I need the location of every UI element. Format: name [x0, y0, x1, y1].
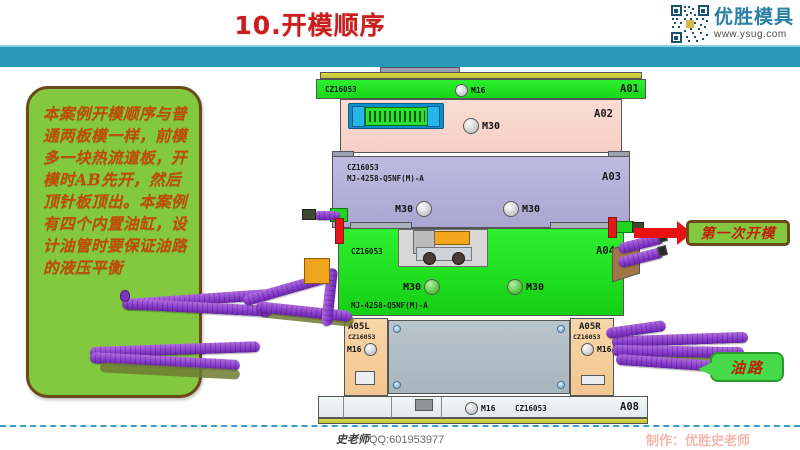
- plate-a03-code2: MJ-4258-Q5NF(M)-A: [347, 174, 424, 183]
- connector-right-end: [427, 106, 440, 127]
- sprue-bush: [415, 399, 433, 411]
- connector-left-end: [352, 106, 365, 127]
- plate-a05l-bolt: M16: [347, 343, 377, 356]
- a08-divider-1: [343, 397, 344, 419]
- plate-a04-bolt1-label: M30: [403, 282, 421, 293]
- plate-a04-code: CZ16053: [351, 247, 383, 256]
- fitting-body-red: [608, 217, 617, 238]
- header-accent-bar: [0, 45, 800, 67]
- plate-a04-bolt-1: M30: [403, 279, 440, 295]
- top-clamp-strip: [320, 72, 642, 79]
- plate-a08-code: CZ16053: [515, 404, 547, 413]
- plate-a03: CZ16053 MJ-4258-Q5NF(M)-A M30 M30 A03: [332, 156, 630, 228]
- bolt-circle-icon: [424, 279, 440, 295]
- slide-footer: 史老师QQ:601953977 制作：优胜史老师: [0, 427, 800, 450]
- ejector-screw-bl: [393, 381, 401, 389]
- bottom-clamp-strip: [318, 418, 648, 424]
- brand-url: www.ysug.com: [714, 30, 794, 40]
- a08-divider-3: [441, 397, 442, 419]
- footer-credit: 制作：优胜史老师: [646, 430, 750, 449]
- bolt-circle-icon: [465, 402, 478, 415]
- bolt-circle-icon: [416, 201, 432, 217]
- plate-a02-bolt: M30: [463, 118, 500, 134]
- plate-a04-bolt2-label: M30: [526, 282, 544, 293]
- hot-runner-connector: [348, 103, 444, 129]
- plate-a01: CZ16053 M16 A01: [316, 79, 646, 99]
- fitting-body-green: [614, 221, 634, 233]
- first-opening-arrow: [634, 228, 678, 238]
- plate-a08-bolt: M16: [465, 402, 495, 415]
- slide-canvas: 10.开模顺序: [0, 0, 800, 450]
- footer-qq: QQ:601953977: [369, 434, 444, 446]
- bolt-circle-icon: [463, 118, 479, 134]
- plate-a01-code: CZ16053: [325, 85, 357, 94]
- plate-a05r-code: CZ16053: [573, 333, 600, 341]
- ejector-screw-tl: [393, 325, 401, 333]
- plate-a01-bolt: M16: [455, 84, 485, 97]
- slide-header: 10.开模顺序: [0, 0, 800, 45]
- plate-a05r-bolt-label: M16: [597, 345, 611, 354]
- connector-body: [365, 107, 429, 126]
- plate-a05l: A05L CZ16053 M16: [344, 318, 388, 396]
- plate-a05l-code: CZ16053: [348, 333, 375, 341]
- hose-end-r2: [657, 245, 668, 257]
- plate-a02-label: A02: [594, 108, 613, 120]
- bolt-circle-icon: [364, 343, 377, 356]
- part-wheel-rear: [452, 252, 465, 265]
- footer-contact: 史老师QQ:601953977: [336, 431, 444, 447]
- bolt-circle-icon: [507, 279, 523, 295]
- brand-logo: 优胜模具 www.ysug.com: [671, 3, 794, 45]
- plate-a01-label: A01: [620, 83, 639, 95]
- plate-a05r-bolt: M16: [581, 343, 611, 356]
- footer-teacher-name: 史老师: [336, 433, 369, 446]
- bolt-circle-icon: [455, 84, 468, 97]
- oil-fitting-left-upper: [302, 202, 348, 230]
- plate-a08-label: A08: [620, 401, 639, 413]
- a08-divider-2: [391, 397, 392, 419]
- ejector-plate-assembly: [388, 320, 570, 394]
- fitting-tip-dark: [302, 209, 316, 220]
- page-title: 10.开模顺序: [0, 6, 620, 42]
- annotation-note-text: 本案例开模顺序与普通两板模一样，前模多一块热流道板，开模时AB先开，然后顶针板顶…: [43, 103, 189, 279]
- plate-a03-bolt-2: M30: [503, 201, 540, 217]
- plate-a04-code2: MJ-4258-Q5NF(M)-A: [351, 301, 428, 310]
- brand-name: 优胜模具: [714, 8, 794, 27]
- part-wheel-front: [423, 252, 436, 265]
- qr-code-icon: [671, 5, 709, 43]
- hose-end-left: [120, 290, 130, 302]
- plate-a03-label: A03: [602, 171, 621, 183]
- bolt-circle-icon: [581, 343, 594, 356]
- plate-a08-bolt-label: M16: [481, 404, 495, 413]
- ejector-screw-br: [557, 381, 565, 389]
- ejector-guide-left: [355, 371, 375, 385]
- plate-a03-bolt1-label: M30: [395, 204, 413, 215]
- plate-a08: M16 CZ16053 A08: [318, 396, 648, 418]
- plate-a03-bolt-1: M30: [395, 201, 432, 217]
- connector-pins: [369, 111, 425, 122]
- plate-a02-bolt-label: M30: [482, 121, 500, 132]
- plate-a04-bolt-2: M30: [507, 279, 544, 295]
- callout-oil-circuit: 油路: [710, 352, 784, 382]
- bolt-circle-icon: [503, 201, 519, 217]
- plate-a03-bolt2-label: M30: [522, 204, 540, 215]
- manifold-block-left: [304, 258, 330, 284]
- plate-a03-code: CZ16053: [347, 163, 379, 172]
- ejector-guide-right: [581, 375, 605, 385]
- fitting-body-red: [335, 218, 344, 244]
- ejector-screw-tr: [557, 325, 565, 333]
- mold-assembly-diagram: CZ16053 M16 A01 M30 A02: [220, 72, 740, 422]
- plate-a01-bolt-label: M16: [471, 86, 485, 95]
- callout-first-opening: 第一次开模: [686, 220, 790, 246]
- plate-a05l-bolt-label: M16: [347, 345, 361, 354]
- brand-text: 优胜模具 www.ysug.com: [714, 8, 794, 40]
- plate-a05r-label: A05R: [579, 322, 601, 332]
